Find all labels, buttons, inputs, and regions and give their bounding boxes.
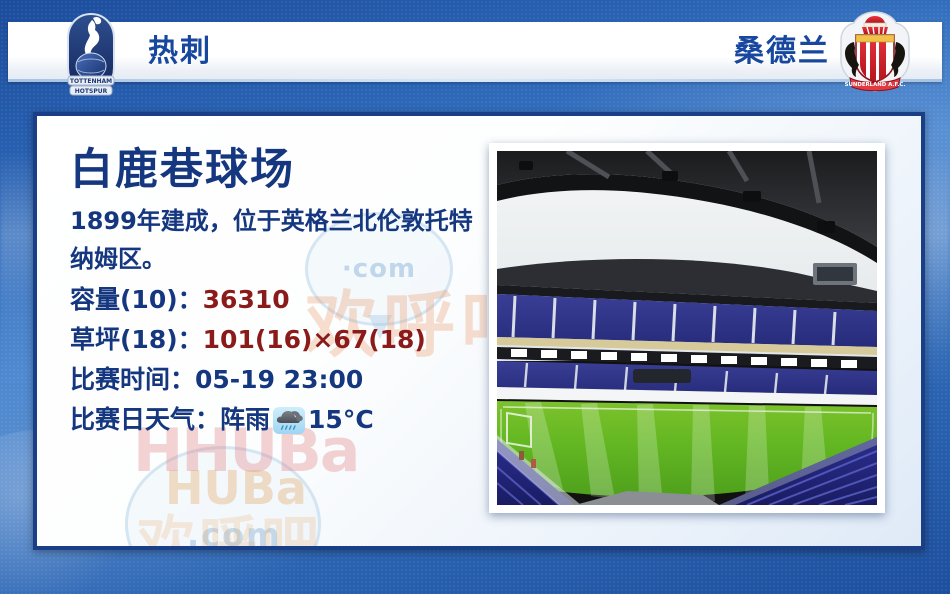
home-team-name: 热刺: [148, 34, 212, 70]
home-crest-banner-bottom: HOTSPUR: [75, 88, 108, 95]
watermark-domain-2: .com: [187, 516, 281, 550]
capacity-row: 容量(10)：36310: [70, 280, 490, 320]
watermark-brand-cn-3: 欢呼吧: [137, 496, 323, 550]
away-team-name: 桑德兰: [734, 34, 830, 70]
pitch-size-row: 草坪(18)：101(16)×67(18): [70, 320, 490, 360]
match-header: TOTTENHAM HOTSPUR 热刺 桑德兰: [0, 22, 950, 82]
watermark-brand-latin-2: HUBa: [165, 461, 307, 515]
stadium-name: 白鹿巷球场: [70, 144, 490, 196]
away-crest-banner: SUNDERLAND A.F.C.: [845, 82, 906, 88]
pitch-size-value: 101(16)×67(18): [203, 325, 426, 354]
stadium-info-block: 白鹿巷球场 1899年建成，位于英格兰北伦敦托特纳姆区。 容量(10)：3631…: [70, 144, 490, 440]
weather-condition: 阵雨: [220, 400, 270, 440]
capacity-label: 容量(10)：: [70, 285, 203, 314]
capacity-value: 36310: [203, 285, 290, 314]
weather-row: 比赛日天气：阵雨: [70, 400, 490, 440]
watermark-bubble: [125, 446, 321, 550]
kickoff-time-value: 05-19 23:00: [195, 365, 363, 394]
tottenham-hotspur-crest: TOTTENHAM HOTSPUR: [62, 10, 120, 98]
info-panel: ·com ·com HHUBa HUBa .com 欢呼吧 欢呼吧 欢呼吧 白鹿…: [33, 112, 925, 550]
stadium-description: 1899年建成，位于英格兰北伦敦托特纳姆区。: [70, 202, 478, 278]
pitch-size-label: 草坪(18)：: [70, 325, 203, 354]
stadium-photo: [497, 151, 877, 505]
kickoff-time-row: 比赛时间：05-19 23:00: [70, 360, 490, 400]
rain-shower-icon: [272, 405, 306, 435]
kickoff-time-label: 比赛时间：: [70, 365, 195, 394]
weather-label: 比赛日天气：: [70, 400, 220, 440]
home-crest-banner-top: TOTTENHAM: [70, 78, 112, 85]
stadium-info-card: TOTTENHAM HOTSPUR 热刺 桑德兰: [0, 0, 950, 594]
stadium-photo-frame: [489, 143, 885, 513]
weather-temperature: 15°C: [308, 400, 374, 440]
sunderland-afc-crest: SUNDERLAND A.F.C.: [838, 10, 912, 94]
